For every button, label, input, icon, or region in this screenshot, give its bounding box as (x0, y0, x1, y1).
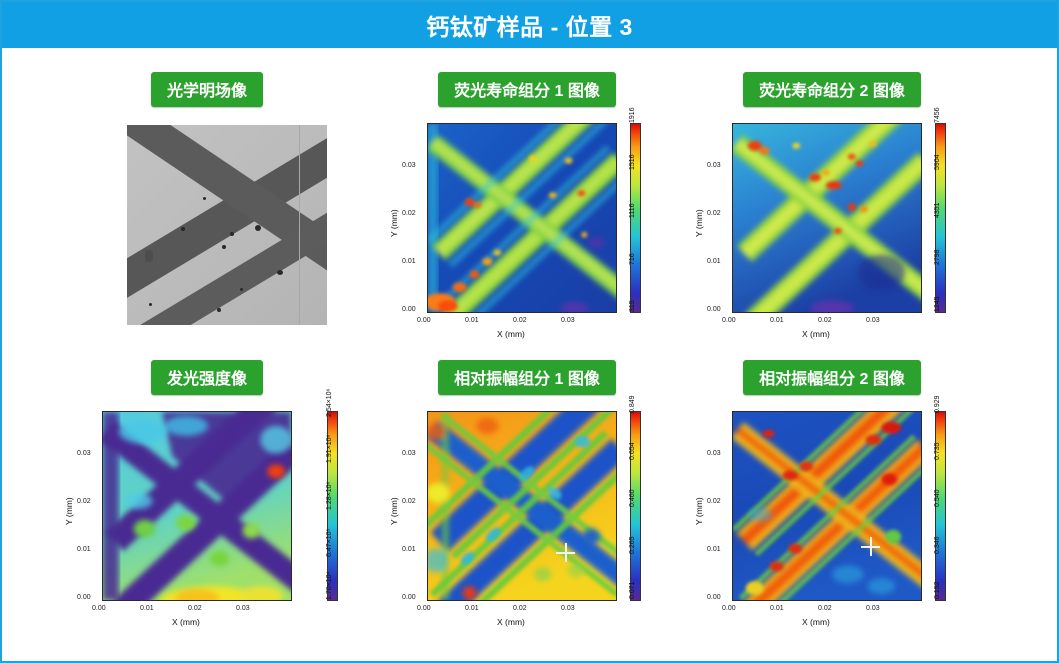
colorbar-tick-label: 7456 (934, 107, 941, 123)
xtick-label: 0.00 (417, 317, 431, 324)
xaxis-label: X (mm) (802, 329, 830, 339)
optical-speck (240, 288, 243, 291)
colorbar-tick-label: 6.47×10⁵ (326, 529, 333, 557)
panel-luminescence-intensity: 发光强度像 (42, 360, 372, 650)
colorbar-tick-label: 2.54×10⁶ (326, 389, 333, 417)
colorbar-tick-label: 0.540 (934, 489, 941, 507)
colorbar-tick-label: 1916 (629, 107, 636, 123)
colorbar-tick-label: 0.071 (629, 581, 636, 599)
panel-title-wrap: 光学明场像 (42, 72, 372, 107)
plot-area-luminescence-intensity (102, 411, 292, 601)
plot-area-fluorescence-lifetime-1 (427, 123, 617, 313)
panel-title-luminescence-intensity: 发光强度像 (151, 360, 263, 395)
xtick-label: 0.02 (188, 605, 202, 612)
ytick-label: 0.00 (402, 306, 416, 313)
xaxis-label: X (mm) (497, 617, 525, 627)
plot-fluorescence-lifetime-2: 0.00 0.01 0.02 0.03 0.00 0.01 0.02 0.03 … (682, 107, 982, 357)
panel-fluorescence-lifetime-2: 荧光寿命组分 2 图像 (682, 72, 982, 357)
plot-area-relative-amplitude-2 (732, 411, 922, 601)
colorbar-tick-label: 1516 (629, 154, 636, 170)
xtick-label: 0.02 (513, 605, 527, 612)
xaxis-label: X (mm) (172, 617, 200, 627)
xtick-label: 0.01 (140, 605, 154, 612)
panel-title-optical-brightfield: 光学明场像 (151, 72, 263, 107)
panel-title-wrap: 相对振幅组分 2 图像 (682, 360, 982, 395)
colorbar-fluorescence-lifetime-2 (935, 123, 946, 313)
colorbar-tick-label: 716 (629, 253, 636, 265)
colorbar-tick-label: 315 (629, 300, 636, 312)
panel-grid: 光学明场像 (2, 50, 1059, 662)
yaxis-label: Y (mm) (389, 209, 399, 237)
colorbar-tick-label: 1.70×10⁴ (326, 571, 333, 600)
plot-relative-amplitude-2: 0.00 0.01 0.02 0.03 0.00 0.01 0.02 0.03 … (682, 395, 982, 645)
colorbar-tick-label: 1245 (934, 296, 941, 312)
plot-relative-amplitude-1: 0.00 0.01 0.02 0.03 0.00 0.01 0.02 0.03 … (377, 395, 677, 645)
panel-relative-amplitude-1: 相对振幅组分 1 图像 (377, 360, 677, 650)
xtick-label: 0.02 (818, 317, 832, 324)
xtick-label: 0.01 (770, 605, 784, 612)
ytick-label: 0.00 (77, 594, 91, 601)
xtick-label: 0.00 (417, 605, 431, 612)
xtick-label: 0.02 (818, 605, 832, 612)
yaxis-label: Y (mm) (389, 497, 399, 525)
ytick-label: 0.01 (402, 546, 416, 553)
colorbar-tick-label: 1.28×10⁶ (326, 482, 333, 510)
ytick-label: 0.01 (707, 546, 721, 553)
ytick-label: 0.02 (707, 210, 721, 217)
yaxis-label: Y (mm) (694, 209, 704, 237)
yaxis-label: Y (mm) (694, 497, 704, 525)
panel-optical-brightfield: 光学明场像 (42, 72, 372, 342)
optical-speck (149, 303, 152, 306)
ytick-label: 0.00 (707, 306, 721, 313)
colorbar-tick-label: 5904 (934, 154, 941, 170)
colorbar-tick-label: 2798 (934, 249, 941, 265)
colorbar-tick-label: 0.849 (629, 395, 636, 413)
panel-title-relative-amplitude-2: 相对振幅组分 2 图像 (743, 360, 921, 395)
panel-relative-amplitude-2: 相对振幅组分 2 图像 (682, 360, 982, 650)
plot-area-fluorescence-lifetime-2 (732, 123, 922, 313)
heatmap-canvas-relative-amplitude-2 (733, 412, 921, 600)
heatmap-canvas-luminescence-intensity (103, 412, 291, 600)
optical-speck (203, 197, 206, 200)
optical-speck (217, 308, 221, 312)
xtick-label: 0.03 (236, 605, 250, 612)
xtick-label: 0.03 (561, 605, 575, 612)
xaxis-label: X (mm) (497, 329, 525, 339)
panel-title-relative-amplitude-1: 相对振幅组分 1 图像 (438, 360, 616, 395)
xtick-label: 0.00 (722, 605, 736, 612)
heatmap-canvas-fluorescence-lifetime-2 (733, 124, 921, 312)
xtick-label: 0.00 (92, 605, 106, 612)
panel-title-wrap: 相对振幅组分 1 图像 (377, 360, 677, 395)
colorbar-fluorescence-lifetime-1 (630, 123, 641, 313)
plot-area-relative-amplitude-1 (427, 411, 617, 601)
colorbar-tick-label: 1.91×10⁶ (326, 435, 333, 463)
colorbar-tick-label: 0.735 (934, 442, 941, 460)
ytick-label: 0.01 (77, 546, 91, 553)
heatmap-canvas-fluorescence-lifetime-1 (428, 124, 616, 312)
heatmap-canvas-relative-amplitude-1 (428, 412, 616, 600)
xaxis-label: X (mm) (802, 617, 830, 627)
ytick-label: 0.02 (77, 498, 91, 505)
optical-speck (277, 270, 283, 275)
ytick-label: 0.03 (707, 450, 721, 457)
optical-speck (255, 225, 261, 231)
optical-speck (222, 245, 226, 249)
ytick-label: 0.02 (402, 498, 416, 505)
xtick-label: 0.03 (561, 317, 575, 324)
xtick-label: 0.00 (722, 317, 736, 324)
xtick-label: 0.01 (465, 605, 479, 612)
panel-title-wrap: 荧光寿命组分 2 图像 (682, 72, 982, 107)
ytick-label: 0.02 (402, 210, 416, 217)
ytick-label: 0.00 (402, 594, 416, 601)
colorbar-tick-label: 4351 (934, 202, 941, 218)
ytick-label: 0.03 (402, 450, 416, 457)
ytick-label: 0.01 (402, 258, 416, 265)
plot-fluorescence-lifetime-1: 0.00 0.01 0.02 0.03 0.00 0.01 0.02 0.03 … (377, 107, 677, 357)
yaxis-label: Y (mm) (64, 497, 74, 525)
ytick-label: 0.03 (402, 162, 416, 169)
colorbar-tick-label: 1116 (629, 203, 636, 218)
panel-title-fluorescence-lifetime-1: 荧光寿命组分 1 图像 (438, 72, 616, 107)
optical-speck (181, 227, 185, 231)
optical-speck (145, 250, 153, 262)
panel-title-fluorescence-lifetime-2: 荧光寿命组分 2 图像 (743, 72, 921, 107)
colorbar-tick-label: 0.152 (934, 581, 941, 599)
colorbar-tick-label: 0.929 (934, 395, 941, 413)
panel-title-wrap: 发光强度像 (42, 360, 372, 395)
optical-brightfield-image (127, 125, 327, 325)
ytick-label: 0.01 (707, 258, 721, 265)
panel-fluorescence-lifetime-1: 荧光寿命组分 1 图像 (377, 72, 677, 357)
xtick-label: 0.01 (465, 317, 479, 324)
xtick-label: 0.03 (866, 605, 880, 612)
ytick-label: 0.03 (707, 162, 721, 169)
panel-title-wrap: 荧光寿命组分 1 图像 (377, 72, 677, 107)
optical-speck (230, 232, 234, 236)
plot-luminescence-intensity: 0.00 0.01 0.02 0.03 0.00 0.01 0.02 0.03 … (42, 395, 372, 645)
colorbar-tick-label: 0.654 (629, 442, 636, 460)
xtick-label: 0.01 (770, 317, 784, 324)
ytick-label: 0.00 (707, 594, 721, 601)
xtick-label: 0.02 (513, 317, 527, 324)
page-title: 钙钛矿样品 - 位置 3 (426, 8, 633, 42)
ytick-label: 0.02 (707, 498, 721, 505)
colorbar-tick-label: 0.346 (934, 536, 941, 554)
optical-scan-line (299, 125, 300, 325)
ytick-label: 0.03 (77, 450, 91, 457)
page-root: 钙钛矿样品 - 位置 3 光学明场像 (0, 0, 1059, 663)
xtick-label: 0.03 (866, 317, 880, 324)
colorbar-tick-label: 0.460 (629, 489, 636, 507)
header-banner: 钙钛矿样品 - 位置 3 (2, 2, 1057, 48)
colorbar-tick-label: 0.265 (629, 536, 636, 554)
